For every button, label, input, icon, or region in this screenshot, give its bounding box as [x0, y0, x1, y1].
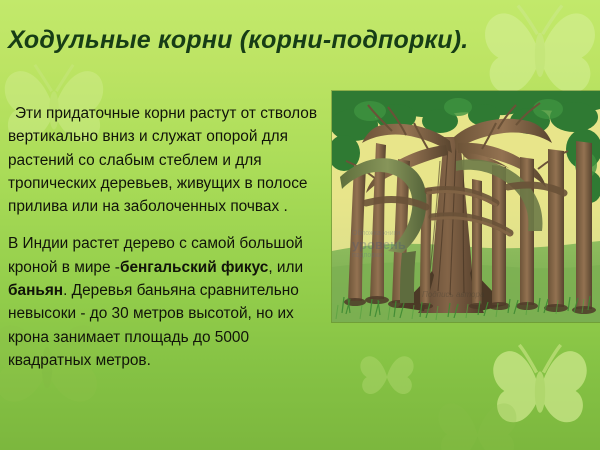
page-title: Ходульные корни (корни-подпорки).: [8, 26, 568, 55]
body-text-block: Эти придаточные корни растут от стволов …: [8, 102, 326, 372]
term-banyan: баньян: [8, 282, 63, 299]
paragraph-2-text-b: , или: [268, 259, 303, 276]
paragraph-2: В Индии растет дерево с самой большой кр…: [8, 232, 326, 372]
butterfly-icon: [352, 340, 422, 410]
butterfly-icon: [480, 330, 600, 445]
banyan-tree-illustration: [332, 91, 600, 322]
paragraph-1: Эти придаточные корни растут от стволов …: [8, 102, 326, 218]
butterfly-icon: [430, 385, 525, 450]
term-bengal-ficus: бенгальский фикус: [120, 259, 268, 276]
paragraph-1-text: Эти придаточные корни растут от стволов …: [8, 105, 317, 215]
presentation-slide: Ходульные корни (корни-подпорки). Эти пр…: [0, 0, 600, 450]
